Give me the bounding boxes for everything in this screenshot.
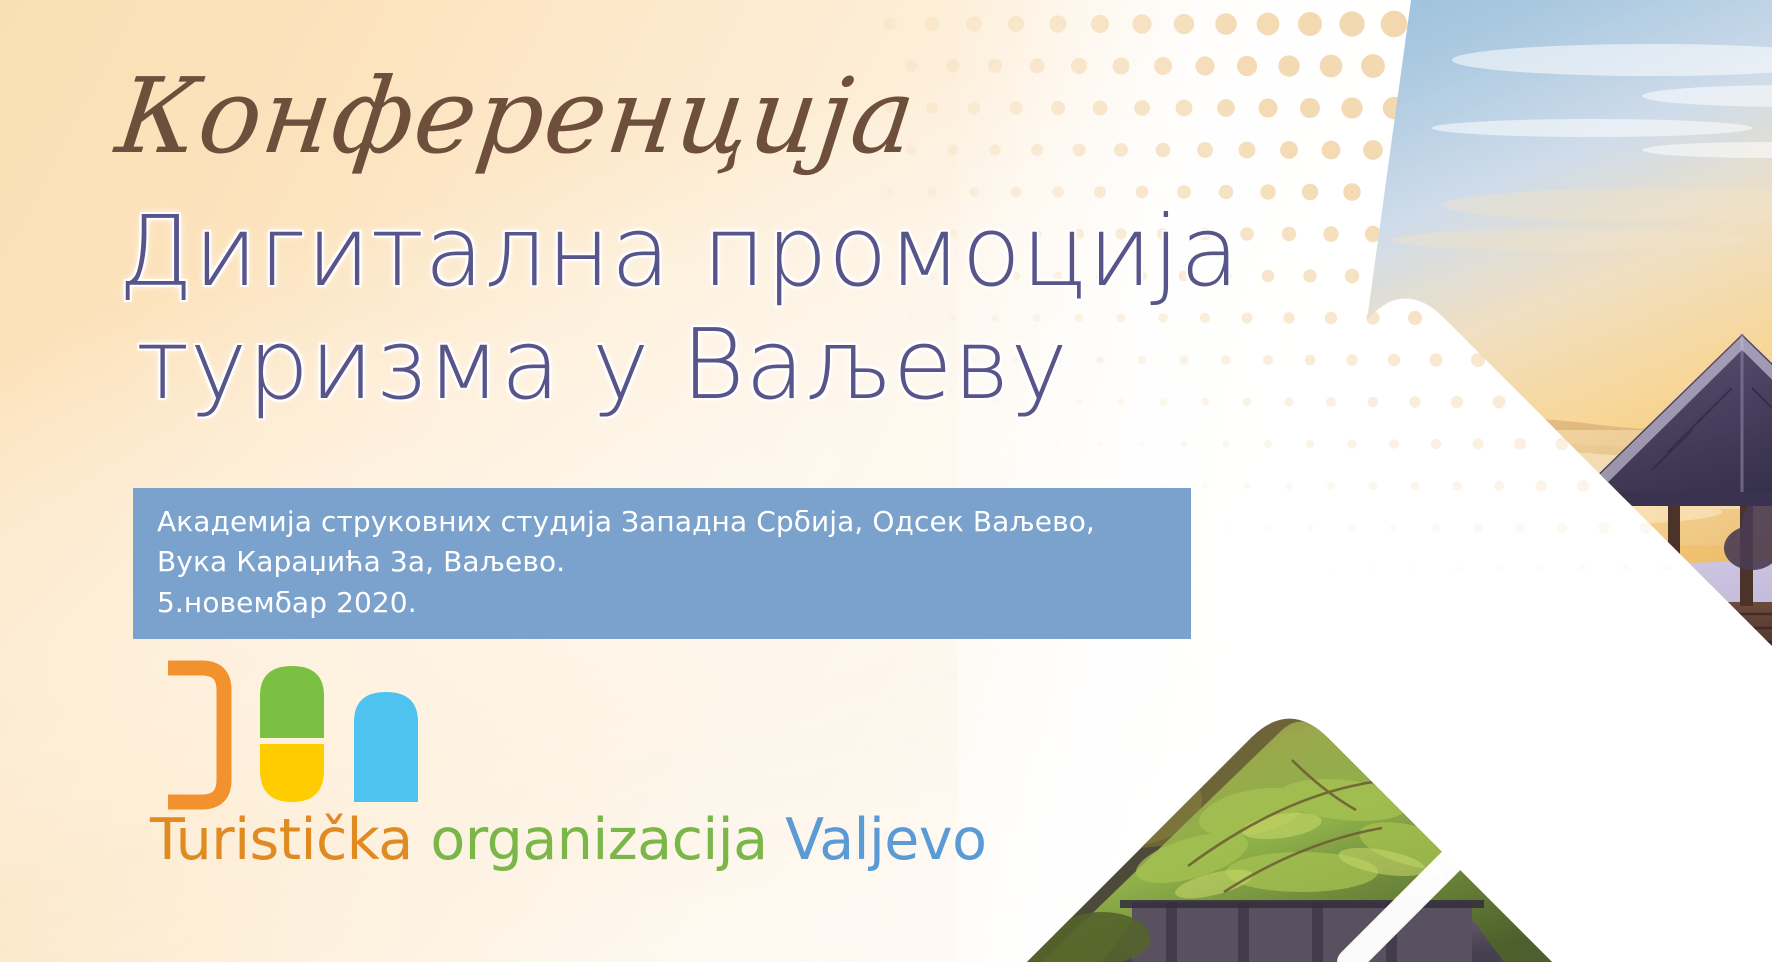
page-title: Дигитална промоција туризма у Ваљеву — [118, 196, 1278, 421]
event-details-panel: Академија струковних студија Западна Срб… — [133, 488, 1191, 639]
wordmark-part-organizacija: organizacija — [430, 807, 767, 873]
conference-poster: Конференција Дигитална промоција туризма… — [0, 0, 1772, 962]
logo-wordmark: Turistička organizacija Valjevo — [150, 812, 930, 869]
venue-line: Академија струковних студија Западна Срб… — [157, 502, 1191, 542]
wordmark-part-valjevo: Valjevo — [785, 807, 986, 873]
title-line-1: Дигитална промоција — [118, 196, 1278, 309]
date-line: 5.новембар 2020. — [157, 583, 1191, 623]
address-line: Вука Караџића 3а, Ваљево. — [157, 542, 1191, 582]
title-line-2: туризма у Ваљеву — [118, 309, 1278, 422]
organization-logo: Turistička organizacija Valjevo — [150, 660, 930, 869]
logo-mark-icon — [150, 660, 450, 810]
wordmark-part-turisticka: Turistička — [150, 807, 413, 873]
eyebrow-script-text: Конференција — [111, 62, 921, 171]
